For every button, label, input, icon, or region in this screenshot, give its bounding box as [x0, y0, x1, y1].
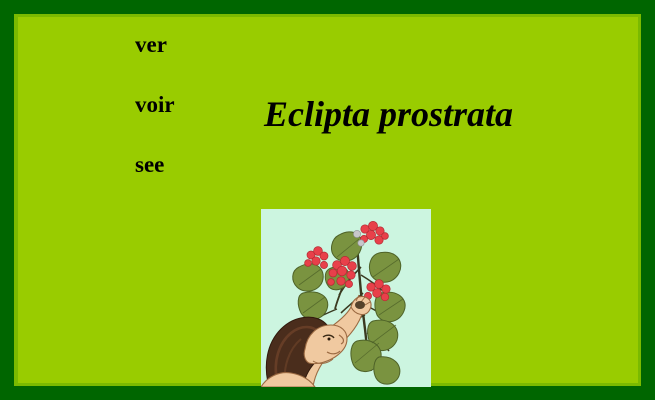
slide-root: ver voir see Eclipta prostrata — [0, 0, 655, 400]
verb-label-en: see — [135, 153, 245, 213]
illustration-panel — [261, 209, 431, 387]
slide-canvas: ver voir see Eclipta prostrata — [18, 17, 638, 383]
plant-and-person-illustration — [261, 209, 431, 387]
verb-translation-stack: ver voir see — [135, 33, 245, 213]
species-title: Eclipta prostrata — [264, 94, 513, 134]
verb-label-fr: voir — [135, 93, 245, 153]
verb-label-es: ver — [135, 33, 245, 93]
